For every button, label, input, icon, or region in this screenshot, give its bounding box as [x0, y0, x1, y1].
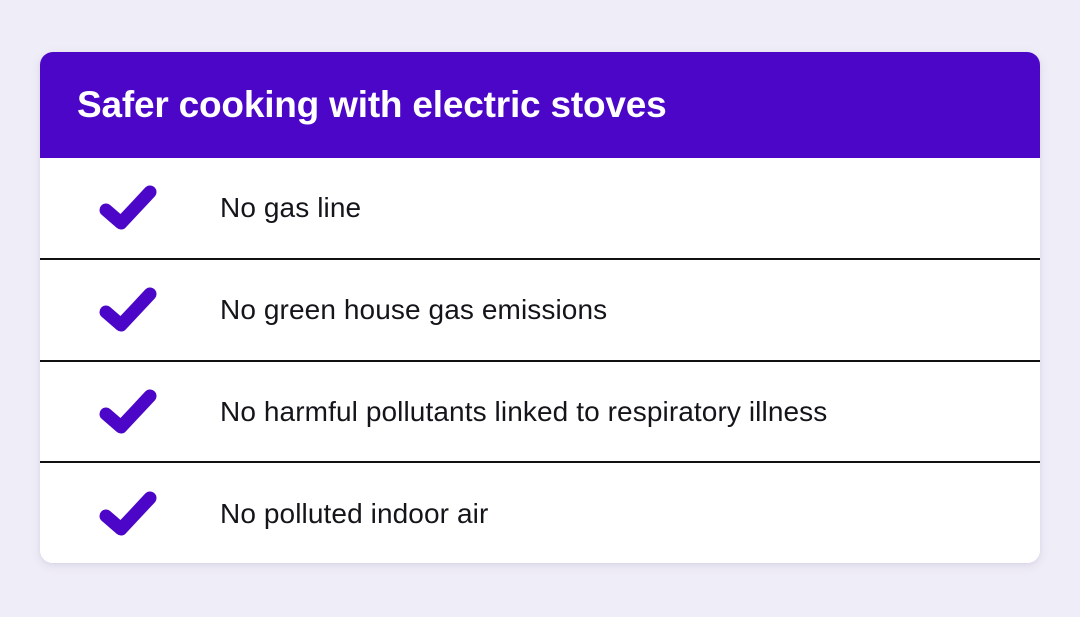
benefit-label: No polluted indoor air: [220, 496, 1040, 531]
list-item: No green house gas emissions: [40, 258, 1040, 360]
list-item: No gas line: [40, 158, 1040, 258]
check-cell: [40, 287, 220, 332]
check-icon: [99, 491, 157, 536]
check-icon: [99, 389, 157, 434]
page-root: Safer cooking with electric stoves No ga…: [0, 0, 1080, 617]
benefit-label: No green house gas emissions: [220, 292, 1040, 327]
benefit-label: No harmful pollutants linked to respirat…: [220, 394, 1040, 429]
check-cell: [40, 389, 220, 434]
check-icon: [99, 287, 157, 332]
check-cell: [40, 491, 220, 536]
benefit-label: No gas line: [220, 190, 1040, 225]
benefits-list: No gas line No green house gas emissions…: [40, 158, 1040, 563]
check-cell: [40, 185, 220, 230]
page-title: Safer cooking with electric stoves: [77, 85, 667, 126]
benefits-card: Safer cooking with electric stoves No ga…: [40, 52, 1040, 563]
check-icon: [99, 185, 157, 230]
list-item: No harmful pollutants linked to respirat…: [40, 360, 1040, 462]
list-item: No polluted indoor air: [40, 461, 1040, 563]
card-header: Safer cooking with electric stoves: [40, 52, 1040, 158]
